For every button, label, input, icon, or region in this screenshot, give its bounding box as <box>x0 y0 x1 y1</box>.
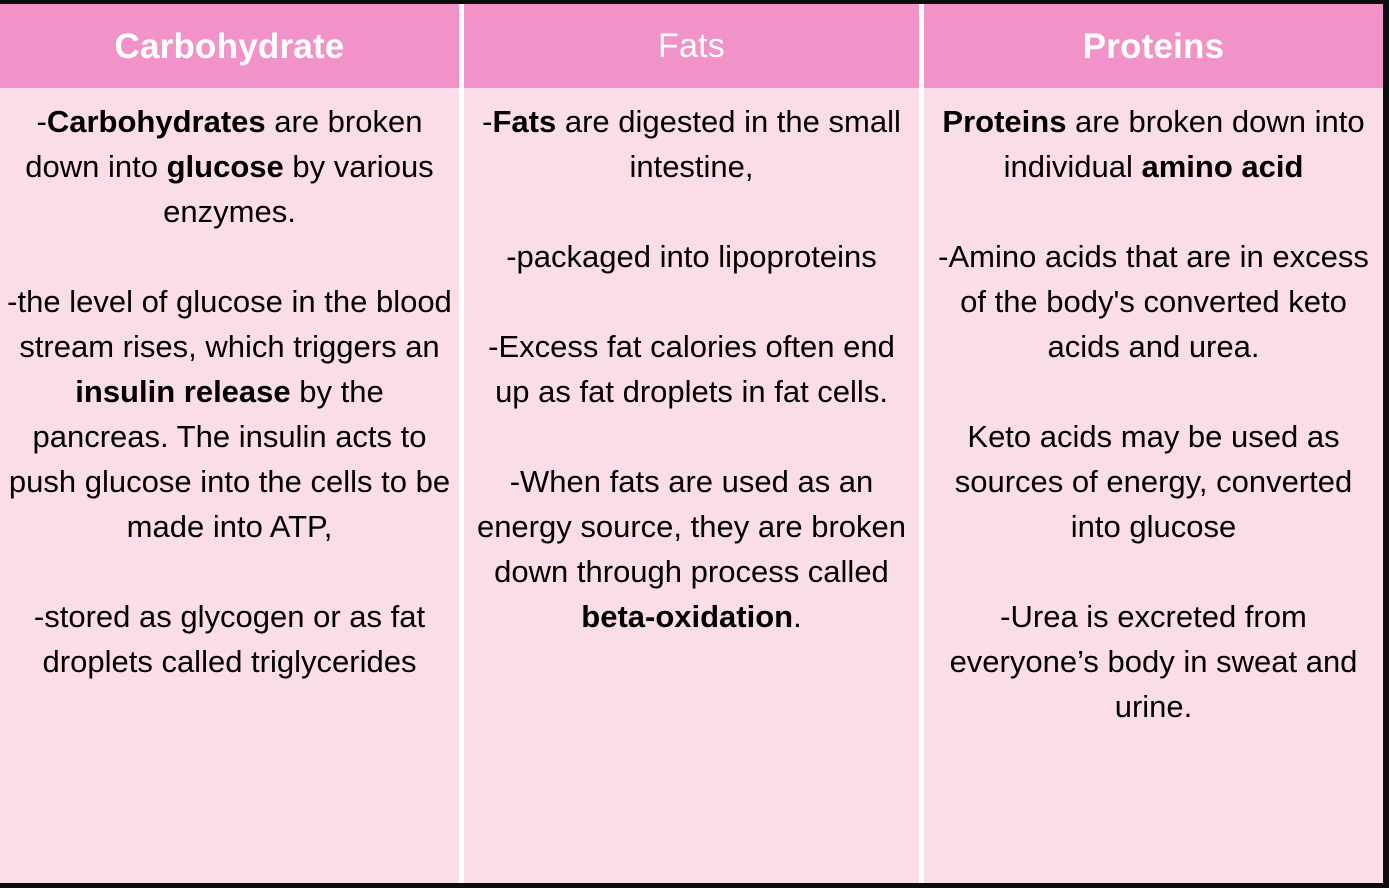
column-header-carbohydrate: Carbohydrate <box>0 4 459 88</box>
emphasis-term: Proteins <box>942 104 1066 139</box>
paragraph-text: - <box>482 104 492 139</box>
cell-paragraph: -Carbohydrates are broken down into gluc… <box>6 99 453 234</box>
emphasis-term: amino acid <box>1141 149 1303 184</box>
cell-paragraph: -the level of glucose in the blood strea… <box>6 279 453 549</box>
paragraph-text: -the level of glucose in the blood strea… <box>7 284 452 364</box>
emphasis-term: Carbohydrates <box>47 104 266 139</box>
column-header-proteins: Proteins <box>924 4 1383 88</box>
cell-paragraph: -When fats are used as an energy source,… <box>472 459 911 639</box>
cell-paragraph: Keto acids may be used as sources of ene… <box>934 414 1373 549</box>
nutrient-digestion-table: Carbohydrate Fats Proteins -Carbohydrate… <box>0 0 1389 888</box>
paragraph-text: -stored as glycogen or as fat droplets c… <box>34 599 425 679</box>
emphasis-term: glucose <box>167 149 284 184</box>
table-header-row: Carbohydrate Fats Proteins <box>0 4 1383 88</box>
table-cell-carbohydrate: -Carbohydrates are broken down into gluc… <box>0 88 459 883</box>
paragraph-text: -Excess fat calories often end up as fat… <box>488 329 895 409</box>
cell-paragraph: -stored as glycogen or as fat droplets c… <box>6 594 453 684</box>
paragraph-text: -When fats are used as an energy source,… <box>477 464 906 589</box>
cell-paragraph: -Amino acids that are in excess of the b… <box>934 234 1373 369</box>
paragraph-text: . <box>793 599 802 634</box>
paragraph-text: -Amino acids that are in excess of the b… <box>938 239 1369 364</box>
emphasis-term: insulin release <box>75 374 290 409</box>
cell-paragraph: Proteins are broken down into individual… <box>934 99 1373 189</box>
table-cell-fats: -Fats are digested in the small intestin… <box>464 88 919 883</box>
emphasis-term: beta-oxidation <box>581 599 793 634</box>
paragraph-text: -packaged into lipoproteins <box>506 239 877 274</box>
table-cell-proteins: Proteins are broken down into individual… <box>924 88 1383 883</box>
cell-paragraph: -Excess fat calories often end up as fat… <box>472 324 911 414</box>
emphasis-term: Fats <box>492 104 556 139</box>
column-header-fats: Fats <box>464 4 919 88</box>
cell-paragraph: -Fats are digested in the small intestin… <box>472 99 911 189</box>
cell-paragraph: -packaged into lipoproteins <box>472 234 911 279</box>
paragraph-text: - <box>37 104 47 139</box>
paragraph-text: Keto acids may be used as sources of ene… <box>955 419 1352 544</box>
paragraph-text: are digested in the small intestine, <box>556 104 901 184</box>
paragraph-text: -Urea is excreted from everyone’s body i… <box>950 599 1358 724</box>
table-body-row: -Carbohydrates are broken down into gluc… <box>0 88 1383 883</box>
cell-paragraph: -Urea is excreted from everyone’s body i… <box>934 594 1373 729</box>
